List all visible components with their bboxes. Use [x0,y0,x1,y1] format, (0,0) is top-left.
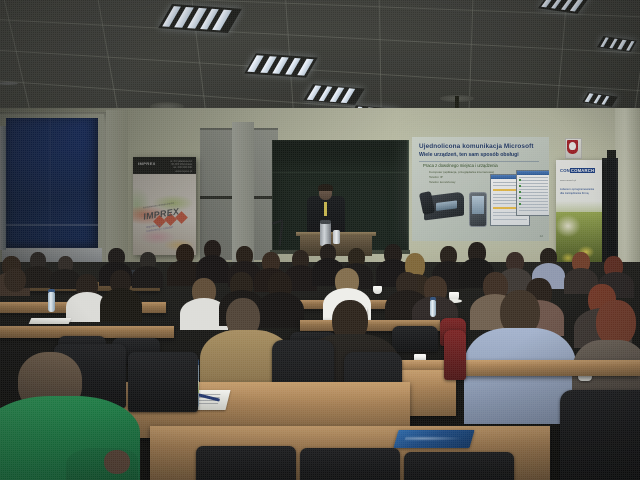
bottle-cap [48,289,55,292]
chair [196,446,296,480]
attendee-body [100,288,142,322]
chair [560,390,640,480]
presenter-hair [318,184,333,191]
chair [300,448,400,480]
thermos-flask [320,222,331,246]
water-bottle [48,292,55,312]
attendee-body [256,292,304,328]
blue-brochure [393,430,474,448]
ceiling-light-fixture [158,4,242,33]
chair [128,352,198,412]
handout-papers [29,318,72,324]
water-bottle [430,300,436,317]
bottle-cap [430,297,436,300]
presenter-tie [324,202,327,216]
chair [404,452,514,480]
attendee-body [132,266,163,288]
conference-room-photo: Ujednolicona komunikacja Microsoft Wiele… [0,0,640,480]
coffee-cup [373,286,382,294]
presenter-water-bottle [333,230,340,244]
attendee-head [4,268,26,292]
ceiling-light-fixture [244,53,318,78]
chair [444,330,466,380]
chair [392,326,438,352]
foreground-attendee-hand [104,450,130,474]
thermos-cap [320,220,331,224]
